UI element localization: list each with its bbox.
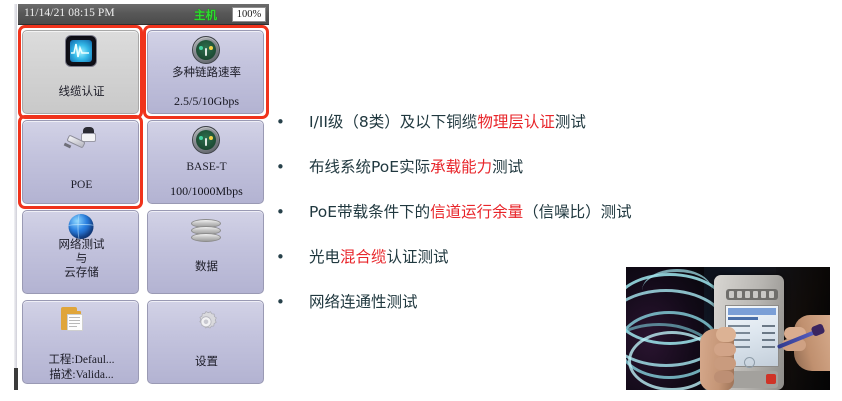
list-item: • I/II级（8类）及以下铜缆物理层认证测试 — [276, 100, 756, 145]
bullet-marker: • — [276, 235, 290, 280]
bullet-text: PoE带载条件下的信道运行余量（信噪比）测试 — [309, 190, 632, 235]
menu-cell-label: 线缆认证 — [23, 86, 139, 100]
bullet-marker: • — [276, 190, 290, 235]
menu-cell-sublabel: 100/1000Mbps — [148, 184, 264, 199]
menu-cell-label: POE — [23, 179, 139, 193]
menu-cell-label-line3: 云存储 — [23, 267, 139, 281]
menu-cell-poe[interactable]: POE — [22, 120, 139, 204]
bullet-marker: • — [276, 145, 290, 190]
menu-cell-label-line1: 网络测试 — [23, 239, 139, 253]
bullet-segment: 光电 — [309, 248, 340, 266]
bullet-segment-emphasis: 信道运行余量 — [430, 203, 523, 221]
bullet-segment: 测试 — [555, 113, 586, 131]
device-screen: 11/14/21 08:15 PM 主机 100% 线缆认证 — [18, 4, 269, 386]
menu-cell-network-test-cloud[interactable]: 网络测试 与 云存储 — [22, 210, 139, 294]
gauge-icon — [192, 126, 220, 154]
bullet-segment: 测试 — [492, 158, 523, 176]
status-host-label: 主机 — [194, 7, 217, 23]
bullet-segment: I/II级（8类）及以下铜缆 — [309, 113, 477, 131]
menu-cell-label: 多种链路速率 — [148, 67, 264, 81]
bullet-segment: PoE带载条件下的 — [309, 203, 430, 221]
bullet-text: 网络连通性测试 — [309, 280, 418, 325]
photo-content — [626, 267, 830, 390]
bullet-marker: • — [276, 280, 290, 325]
bullet-segment: 网络连通性测试 — [309, 293, 418, 311]
bullet-segment-emphasis: 混合缆 — [340, 248, 387, 266]
menu-cell-cable-certification[interactable]: 线缆认证 — [22, 30, 139, 114]
gear-icon — [192, 309, 219, 336]
device-left-bezel — [14, 4, 17, 390]
status-battery-percent: 100% — [232, 7, 266, 22]
list-item: • PoE带载条件下的信道运行余量（信噪比）测试 — [276, 190, 756, 235]
gauge-icon — [192, 36, 220, 64]
status-clock: 11/14/21 08:15 PM — [24, 7, 115, 19]
bullet-segment: 布线系统PoE实际 — [309, 158, 430, 176]
menu-cell-data[interactable]: 数据 — [147, 210, 264, 294]
document-icon — [61, 306, 87, 332]
menu-cell-project-info[interactable]: 工程:Defaul... 描述:Valida... — [22, 300, 139, 384]
database-icon — [191, 219, 221, 245]
menu-cell-label-line2: 与 — [23, 253, 139, 267]
menu-cell-project-line: 工程:Defaul... — [23, 354, 139, 368]
menu-cell-multi-link-speed[interactable]: 多种链路速率 2.5/5/10Gbps — [147, 30, 264, 114]
list-item: • 布线系统PoE实际承载能力测试 — [276, 145, 756, 190]
bullet-text: I/II级（8类）及以下铜缆物理层认证测试 — [309, 100, 586, 145]
menu-cell-label: 数据 — [148, 261, 264, 275]
menu-cell-settings[interactable]: 设置 — [147, 300, 264, 384]
bullet-segment-emphasis: 承载能力 — [430, 158, 492, 176]
globe-icon — [68, 214, 93, 239]
bullet-segment: 认证测试 — [387, 248, 449, 266]
tester-in-use-photo — [622, 263, 834, 394]
menu-cell-description-line: 描述:Valida... — [23, 369, 139, 383]
bullet-marker: • — [276, 100, 290, 145]
menu-cell-label: 设置 — [148, 356, 264, 370]
status-bar: 11/14/21 08:15 PM 主机 100% — [18, 4, 269, 25]
bullet-text: 布线系统PoE实际承载能力测试 — [309, 145, 523, 190]
menu-grid: 线缆认证 多种链路速率 2.5/5/10Gbps — [18, 25, 269, 386]
bullet-text: 光电混合缆认证测试 — [309, 235, 449, 280]
waveform-icon — [66, 36, 96, 66]
bullet-segment-emphasis: 物理层认证 — [477, 113, 555, 131]
menu-cell-label: BASE-T — [148, 161, 264, 175]
poe-plug-icon — [64, 127, 98, 153]
handheld-tester-device: 11/14/21 08:15 PM 主机 100% 线缆认证 — [14, 4, 269, 390]
menu-cell-sublabel: 2.5/5/10Gbps — [148, 94, 264, 109]
bullet-segment: （信噪比）测试 — [523, 203, 632, 221]
menu-cell-base-t[interactable]: BASE-T 100/1000Mbps — [147, 120, 264, 204]
